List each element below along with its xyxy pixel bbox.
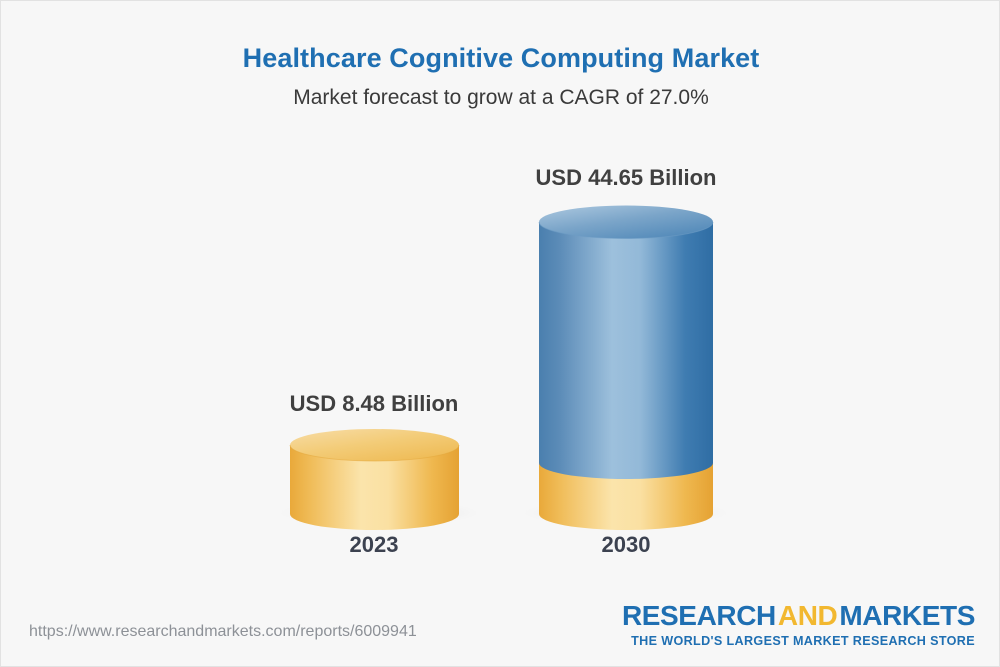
cylinder-bars-svg xyxy=(1,1,1000,667)
category-label-2023: 2023 xyxy=(234,532,514,558)
logo-tagline: THE WORLD'S LARGEST MARKET RESEARCH STOR… xyxy=(622,635,975,648)
logo-wordmark: RESEARCHANDMARKETS xyxy=(622,602,975,630)
logo-word-research: RESEARCH xyxy=(622,600,776,631)
logo-word-and: AND xyxy=(776,600,839,631)
research-and-markets-logo[interactable]: RESEARCHANDMARKETS THE WORLD'S LARGEST M… xyxy=(622,602,975,648)
chart-plot-area: USD 8.48 Billion USD 44.65 Billion 2023 … xyxy=(1,1,1000,667)
source-url[interactable]: https://www.researchandmarkets.com/repor… xyxy=(29,623,417,641)
value-label-2023: USD 8.48 Billion xyxy=(234,391,514,417)
infographic-canvas: Healthcare Cognitive Computing Market Ma… xyxy=(0,0,1000,667)
bar-2030 xyxy=(523,206,729,531)
category-label-2030: 2030 xyxy=(486,532,766,558)
bar-2023 xyxy=(279,429,479,530)
value-label-2030: USD 44.65 Billion xyxy=(486,165,766,191)
logo-word-markets: MARKETS xyxy=(839,600,975,631)
